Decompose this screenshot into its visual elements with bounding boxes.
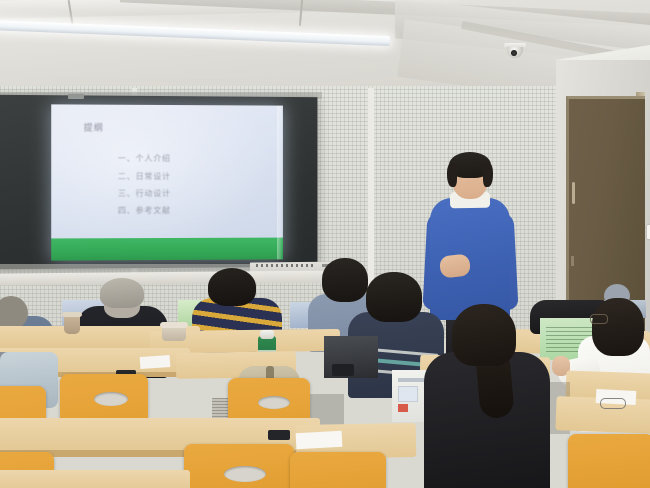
cup-lid: [62, 312, 82, 317]
control-panel-indicator-lights: [256, 264, 314, 267]
laptop-ui-element: [398, 378, 424, 382]
slide-bullet-2: 二、日常设计: [118, 171, 171, 182]
student-hair: [592, 298, 644, 356]
laptop-ui-element: [398, 404, 408, 412]
cup-lid: [160, 322, 188, 328]
slide-bullet-3: 三、行动设计: [118, 188, 171, 199]
camera-lens-icon: [511, 50, 517, 56]
board-clip: [68, 94, 84, 99]
classroom-scene: 提纲 一、个人介绍 二、日常设计 三、行动设计 四、参考文献: [0, 0, 650, 488]
paper-coffee-cup: [64, 314, 80, 334]
chair-handle-cutout: [258, 396, 290, 409]
presenter-hair-side: [447, 163, 457, 187]
eyeglasses: [590, 314, 608, 324]
student-chair[interactable]: [290, 452, 386, 488]
student-gray-hair: [100, 278, 144, 308]
bottle-cap: [260, 330, 274, 339]
student-hair: [452, 304, 516, 366]
chair-handle-cutout: [94, 392, 128, 406]
ceiling-dome-camera: [504, 43, 526, 55]
eyeglasses: [600, 398, 626, 409]
slide-accent-band: [51, 238, 283, 261]
door-handle[interactable]: [572, 182, 575, 204]
paper-handout: [140, 355, 171, 369]
door-hinge: [571, 256, 574, 266]
slide-edge-highlight: [277, 106, 283, 260]
student-hair: [366, 272, 422, 322]
student-hair: [208, 268, 256, 306]
student-chair[interactable]: [568, 434, 650, 488]
presenter-hair-side: [483, 163, 493, 187]
projected-slide: 提纲 一、个人介绍 二、日常设计 三、行动设计 四、参考文献: [51, 104, 283, 260]
paper-handout: [296, 431, 343, 449]
laptop-ui-element: [398, 386, 418, 402]
chair-handle-cutout: [224, 466, 266, 482]
smartphone: [268, 430, 290, 440]
slide-title: 提纲: [84, 121, 104, 134]
slide-bullet-1: 一、个人介绍: [118, 153, 171, 164]
slide-bullet-4: 四、参考文献: [118, 205, 171, 216]
student-desk: [0, 470, 190, 488]
student-hair: [322, 258, 368, 302]
smartphone: [332, 364, 354, 376]
